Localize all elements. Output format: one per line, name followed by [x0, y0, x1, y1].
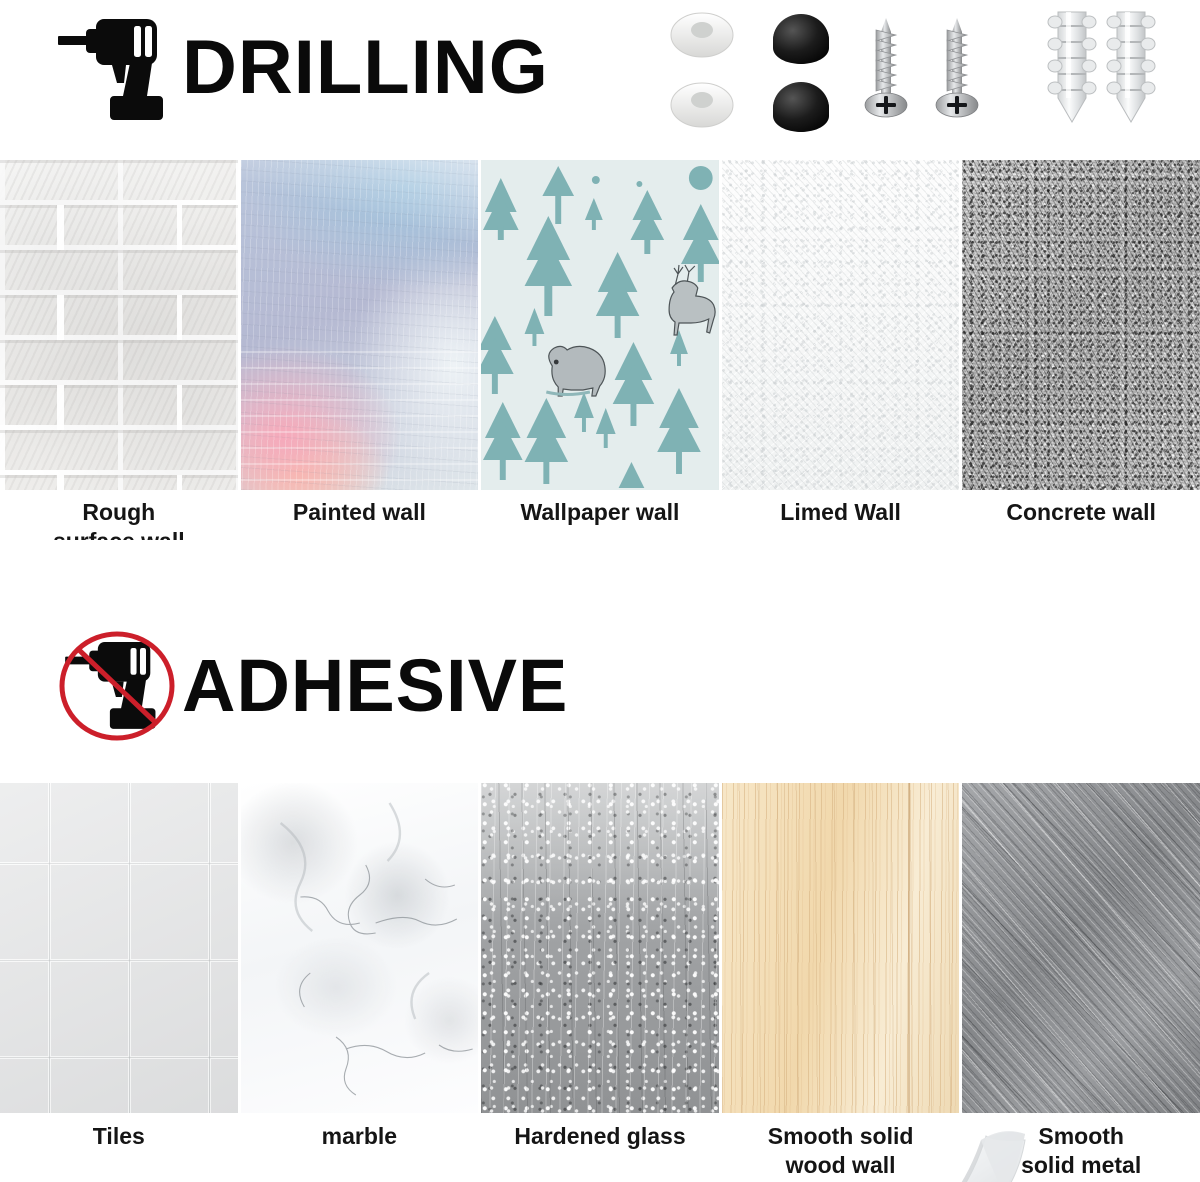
drilling-title-group: DRILLING	[52, 12, 549, 124]
drilling-surface-row	[0, 160, 1200, 490]
no-drill-icon	[52, 630, 182, 742]
caption-marble: marble	[241, 1122, 479, 1181]
drilling-section-header: DRILLING	[0, 0, 1200, 155]
black-screw-cap	[773, 14, 829, 64]
adhesive-caption-row: Tiles marble Hardened glass Smooth solid…	[0, 1122, 1200, 1181]
surface-smooth-solid-wood-wall	[722, 783, 960, 1113]
surface-concrete-wall	[962, 160, 1200, 490]
drilling-title: DRILLING	[182, 30, 549, 106]
surface-smooth-solid-metal	[962, 783, 1200, 1113]
product-infographic: DRILLING	[0, 0, 1200, 1182]
adhesive-title-group: ADHESIVE	[52, 630, 568, 742]
screw	[936, 18, 978, 117]
wall-anchor	[1107, 12, 1155, 122]
adhesive-section-header: ADHESIVE	[0, 540, 1200, 780]
surface-marble	[241, 783, 479, 1113]
surface-rough-surface-wall	[0, 160, 238, 490]
black-screw-cap	[773, 82, 829, 132]
caption-hardened-glass: Hardened glass	[481, 1122, 719, 1181]
surface-limed-wall	[722, 160, 960, 490]
white-washer	[671, 13, 733, 57]
adhesive-surface-row	[0, 783, 1200, 1113]
surface-hardened-glass	[481, 783, 719, 1113]
caption-smooth-solid-wood-wall: Smooth solid wood wall	[722, 1122, 960, 1181]
surface-wallpaper-wall	[481, 160, 719, 490]
caption-tiles: Tiles	[0, 1122, 238, 1181]
surface-tiles	[0, 783, 238, 1113]
surface-painted-wall	[241, 160, 479, 490]
white-washer	[671, 83, 733, 127]
wall-anchor	[1048, 12, 1096, 122]
drill-icon	[52, 12, 182, 124]
caption-smooth-solid-metal: Smooth solid metal	[962, 1122, 1200, 1181]
adhesive-title: ADHESIVE	[182, 649, 568, 723]
screw	[865, 18, 907, 117]
drilling-hardware-group	[660, 4, 1190, 144]
